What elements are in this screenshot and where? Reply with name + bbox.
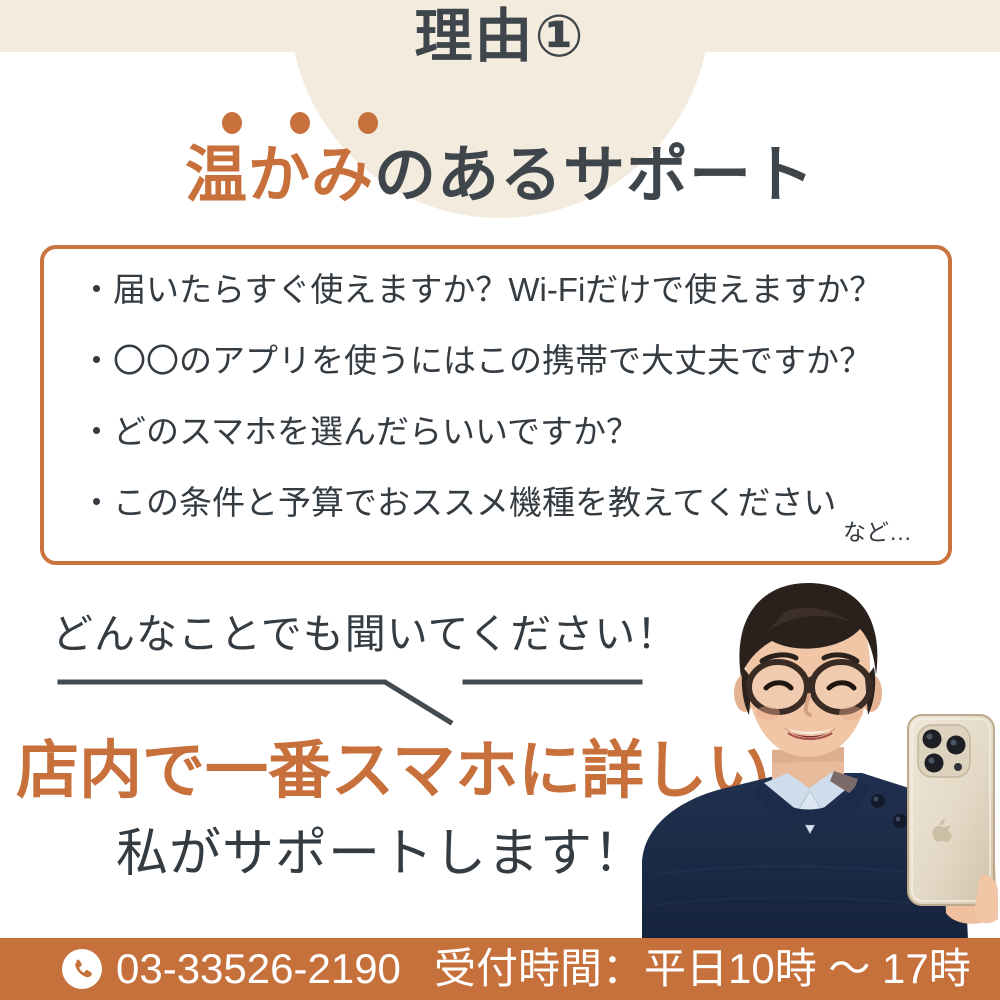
callout-subline: どんなことでも聞いてください！ [52,600,678,660]
dot-icon [290,112,310,134]
headline-rest: のあるサポート [374,141,815,210]
decorative-rule [40,660,680,730]
contact-footer: 03-33526-2190 受付時間：平日10時 ～ 17時 [0,938,1000,1000]
dot-icon [222,112,242,134]
dot-icon [358,112,378,134]
list-item: ・届いたらすぐ使えますか？Wi-Fiだけで使えますか？ [80,273,928,306]
list-item: ・〇〇のアプリを使うにはこの携帯で大丈夫ですか？ [80,344,928,377]
phone-number[interactable]: 03-33526-2190 [116,948,401,990]
page-title: 理由① [0,8,1000,66]
question-box: ・届いたらすぐ使えますか？Wi-Fiだけで使えますか？ ・〇〇のアプリを使うには… [40,245,952,565]
list-item: ・どのスマホを選んだらいいですか？ [80,415,928,448]
staff-photo [612,575,1000,940]
promo-page: 理由① 温かみのあるサポート ・届いたらすぐ使えますか？Wi-Fiだけで使えます… [0,0,1000,1000]
staff-illustration [612,575,1000,940]
business-hours: 受付時間：平日10時 ～ 17時 [434,948,971,990]
list-item: ・この条件と予算でおススメ機種を教えてください [80,486,928,519]
question-list: ・届いたらすぐ使えますか？Wi-Fiだけで使えますか？ ・〇〇のアプリを使うには… [80,273,928,519]
phone-handset-icon[interactable] [62,949,102,989]
etcetera-label: など… [843,513,912,547]
headline: 温かみのあるサポート [0,140,1000,211]
callout-second-line: 私がサポートします！ [116,828,646,880]
headline-accent: 温かみ [185,141,374,210]
headline-dots [222,112,378,134]
